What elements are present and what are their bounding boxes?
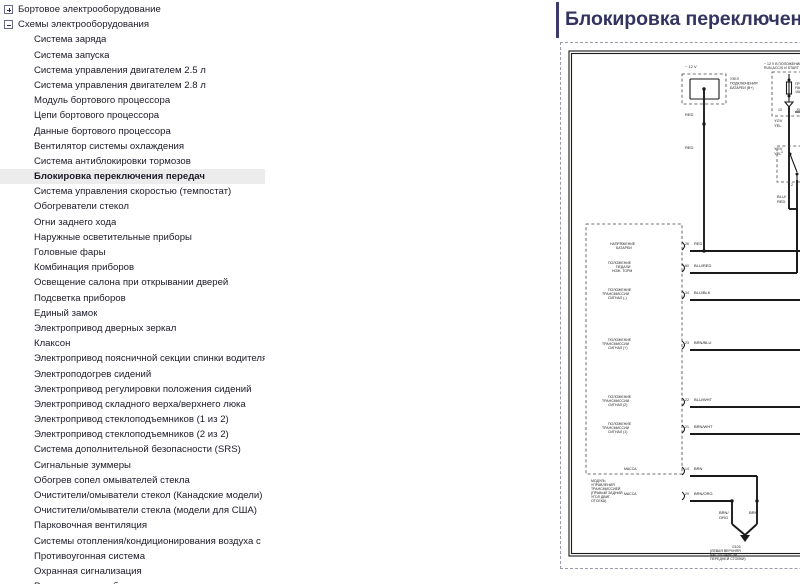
svg-text:RUN,ACC/S И START: RUN,ACC/S И START	[764, 66, 800, 70]
tree-item-26[interactable]: Электропривод складного верха/верхнего л…	[0, 397, 265, 412]
content-pane: Блокировка переключения передач .ln { st…	[265, 0, 800, 584]
tree-item-label: Система управления двигателем 2.8 л	[34, 78, 206, 93]
tree-item-label: Бортовое электрооборудование	[18, 2, 161, 17]
svg-text:1: 1	[781, 150, 783, 154]
tree-item-label: Освещение салона при открывании дверей	[34, 275, 228, 290]
tree-item-28[interactable]: Электропривод стеклоподъемников (2 из 2)	[0, 427, 265, 442]
svg-text:BLU/RED: BLU/RED	[694, 263, 711, 268]
svg-text:ПОДКЛЮЧЕНИЯ: ПОДКЛЮЧЕНИЯ	[730, 82, 758, 86]
expand-plus-icon[interactable]	[4, 5, 13, 14]
tree-item-label: Система запуска	[34, 48, 109, 63]
svg-text:14: 14	[685, 467, 689, 471]
tree-item-label: Клаксон	[34, 336, 70, 351]
tree-item-15[interactable]: Наружные осветительные приборы	[0, 230, 265, 245]
tree-item-14[interactable]: Огни заднего хода	[0, 215, 265, 230]
svg-text:22: 22	[685, 398, 689, 402]
tree-item-label: Сигнальные зуммеры	[34, 458, 131, 473]
tree-item-3[interactable]: Система запуска	[0, 48, 265, 63]
svg-text:~ 12 V: ~ 12 V	[685, 64, 697, 69]
svg-text:УЗЕЛ: УЗЕЛ	[730, 77, 740, 81]
tree-item-label: Комбинация приборов	[34, 260, 134, 275]
wiring-diagram-frame: .ln { stroke:#1a1a1a; stroke-width:1.1; …	[560, 42, 800, 569]
tree-item-37[interactable]: Охранная сигнализация	[0, 564, 265, 579]
tree-item-label: Охранная сигнализация	[34, 564, 142, 579]
navigation-sidebar[interactable]: Бортовое электрооборудованиеСхемы электр…	[0, 0, 265, 584]
tree-item-34[interactable]: Парковочная вентиляция	[0, 518, 265, 533]
tree-item-5[interactable]: Система управления двигателем 2.8 л	[0, 78, 265, 93]
svg-text:21: 21	[685, 425, 689, 429]
tree-item-label: Системы отопления/кондиционирования возд…	[34, 534, 261, 549]
application-window: Бортовое электрооборудованиеСхемы электр…	[0, 0, 800, 584]
tree-item-12[interactable]: Система управления скоростью (темпостат)	[0, 184, 265, 199]
tree-item-25[interactable]: Электропривод регулировки положения сиде…	[0, 382, 265, 397]
tree-item-30[interactable]: Сигнальные зуммеры	[0, 458, 265, 473]
svg-text:ORG: ORG	[719, 515, 728, 520]
tree-item-label: Система антиблокировки тормозов	[34, 154, 191, 169]
tree-item-label: Огни заднего хода	[34, 215, 116, 230]
tree-item-18[interactable]: Освещение салона при открывании дверей	[0, 275, 265, 290]
collapse-minus-icon[interactable]	[4, 20, 13, 29]
tree-item-10[interactable]: Система антиблокировки тормозов	[0, 154, 265, 169]
svg-text:YEL: YEL	[774, 123, 782, 128]
svg-text:BRN/WHT: BRN/WHT	[694, 424, 713, 429]
svg-text:ОТСЕКА): ОТСЕКА)	[591, 499, 606, 503]
svg-text:60: 60	[685, 264, 689, 268]
tree-item-label: Электропривод стеклоподъемников (2 из 2)	[34, 427, 229, 442]
svg-text:BRN/BLU: BRN/BLU	[694, 340, 711, 345]
svg-text:26: 26	[685, 242, 689, 246]
svg-text:J3008: J3008	[796, 108, 800, 112]
tree-item-16[interactable]: Головные фары	[0, 245, 265, 260]
tree-item-label: Модуль бортового процессора	[34, 93, 170, 108]
svg-text:BRN: BRN	[694, 466, 703, 471]
tree-item-label: Электропривод стеклоподъемников (1 из 2)	[34, 412, 229, 427]
tree-item-29[interactable]: Система дополнительной безопасности (SRS…	[0, 442, 265, 457]
tree-item-label: Противоугонная система	[34, 549, 145, 564]
tree-item-label: Система дополнительной безопасности (SRS…	[34, 442, 241, 457]
svg-text:БАТАРЕИ (B+): БАТАРЕИ (B+)	[730, 86, 754, 90]
tree-item-27[interactable]: Электропривод стеклоподъемников (1 из 2)	[0, 412, 265, 427]
svg-text:СИГНАЛ (+): СИГНАЛ (+)	[608, 346, 628, 350]
svg-text:СИГНАЛ (-): СИГНАЛ (-)	[608, 296, 627, 300]
tree-item-label: Головные фары	[34, 245, 105, 260]
svg-text:МАССА: МАССА	[624, 492, 637, 496]
tree-item-17[interactable]: Комбинация приборов	[0, 260, 265, 275]
tree-item-label: Данные бортового процессора	[34, 124, 171, 139]
wiring-diagram: .ln { stroke:#1a1a1a; stroke-width:1.1; …	[564, 46, 800, 565]
svg-text:29: 29	[685, 492, 689, 496]
title-bar: Блокировка переключения передач	[555, 0, 800, 38]
tree-item-label: Блокировка переключения передач	[34, 169, 205, 184]
tree-item-label: Радиоприемник - базовая комплектация	[34, 579, 214, 584]
tree-item-label: Электроподогрев сидений	[34, 367, 151, 382]
svg-text:23: 23	[685, 341, 689, 345]
tree-item-22[interactable]: Клаксон	[0, 336, 265, 351]
svg-text:СИГНАЛ (2): СИГНАЛ (2)	[608, 403, 627, 407]
tree-item-label: Электропривод поясничной секции спинки в…	[34, 351, 265, 366]
tree-item-label: Система заряда	[34, 32, 106, 47]
tree-item-label: Электропривод складного верха/верхнего л…	[34, 397, 246, 412]
svg-text:34: 34	[685, 291, 689, 295]
tree-item-6[interactable]: Модуль бортового процессора	[0, 93, 265, 108]
svg-text:2: 2	[791, 183, 793, 187]
tree-item-label: Цепи бортового процессора	[34, 108, 159, 123]
tree-item-32[interactable]: Очистители/омыватели стекол (Канадские м…	[0, 488, 265, 503]
tree-item-20[interactable]: Единый замок	[0, 306, 265, 321]
tree-item-label: Очистители/омыватели стекол (Канадские м…	[34, 488, 262, 503]
tree-item-label: Парковочная вентиляция	[34, 518, 147, 533]
tree-item-label: Подсветка приборов	[34, 291, 126, 306]
tree-item-label: Электропривод регулировки положения сиде…	[34, 382, 251, 397]
tree-item-label: Обогреватели стекол	[34, 199, 129, 214]
svg-text:BLU/WHT: BLU/WHT	[694, 397, 713, 402]
tree-item-label: Единый замок	[34, 306, 97, 321]
svg-text:BRN/ORG: BRN/ORG	[694, 491, 713, 496]
tree-item-label: Система управления скоростью (темпостат)	[34, 184, 231, 199]
tree-item-2[interactable]: Система заряда	[0, 32, 265, 47]
svg-text:БАТАРЕИ: БАТАРЕИ	[616, 246, 632, 250]
tree-item-label: Вентилятор системы охлаждения	[34, 139, 184, 154]
tree-item-24[interactable]: Электроподогрев сидений	[0, 367, 265, 382]
svg-text:BRN: BRN	[749, 510, 758, 515]
tree-item-21[interactable]: Электропривод дверных зеркал	[0, 321, 265, 336]
tree-item-38[interactable]: Радиоприемник - базовая комплектация	[0, 579, 265, 584]
tree-item-label: Схемы электрооборудования	[18, 17, 149, 32]
tree-item-1[interactable]: Схемы электрооборудования	[0, 17, 265, 32]
svg-text:МАССА: МАССА	[624, 467, 637, 471]
svg-text:RED: RED	[685, 112, 694, 117]
svg-text:НОЖ. ТОРМ: НОЖ. ТОРМ	[612, 269, 632, 273]
tree-item-33[interactable]: Очистители/омыватели стекла (модели для …	[0, 503, 265, 518]
tree-item-label: Система управления двигателем 2.5 л	[34, 63, 206, 78]
document-tree[interactable]: Бортовое электрооборудованиеСхемы электр…	[0, 2, 265, 584]
tree-item-label: Электропривод дверных зеркал	[34, 321, 176, 336]
tree-item-19[interactable]: Подсветка приборов	[0, 291, 265, 306]
tree-item-23[interactable]: Электропривод поясничной секции спинки в…	[0, 351, 265, 366]
tree-item-label: Очистители/омыватели стекла (модели для …	[34, 503, 257, 518]
tree-item-label: Наружные осветительные приборы	[34, 230, 192, 245]
tree-item-13[interactable]: Обогреватели стекол	[0, 199, 265, 214]
tree-item-7[interactable]: Цепи бортового процессора	[0, 108, 265, 123]
tree-item-8[interactable]: Данные бортового процессора	[0, 124, 265, 139]
tree-item-35[interactable]: Системы отопления/кондиционирования возд…	[0, 534, 265, 549]
svg-text:BLU/BLK: BLU/BLK	[694, 290, 711, 295]
svg-text:RED: RED	[777, 199, 786, 204]
page-title: Блокировка переключения передач	[555, 8, 800, 31]
tree-item-31[interactable]: Обогрев сопел омывателей стекла	[0, 473, 265, 488]
svg-text:15A: 15A	[795, 90, 800, 94]
tree-item-36[interactable]: Противоугонная система	[0, 549, 265, 564]
wiring-diagram-svg: .ln { stroke:#1a1a1a; stroke-width:1.1; …	[564, 46, 800, 565]
svg-text:ПЕРЕДНЕЙ СТОЙКИ): ПЕРЕДНЕЙ СТОЙКИ)	[710, 557, 746, 561]
svg-text:RED: RED	[685, 145, 694, 150]
svg-text:10: 10	[778, 108, 782, 112]
svg-text:RED: RED	[694, 241, 703, 246]
tree-item-label: Обогрев сопел омывателей стекла	[34, 473, 190, 488]
tree-item-11[interactable]: Блокировка переключения передач	[0, 169, 265, 184]
tree-item-9[interactable]: Вентилятор системы охлаждения	[0, 139, 265, 154]
tree-item-4[interactable]: Система управления двигателем 2.5 л	[0, 63, 265, 78]
tree-item-0[interactable]: Бортовое электрооборудование	[0, 2, 265, 17]
svg-text:СИГНАЛ (1): СИГНАЛ (1)	[608, 430, 627, 434]
